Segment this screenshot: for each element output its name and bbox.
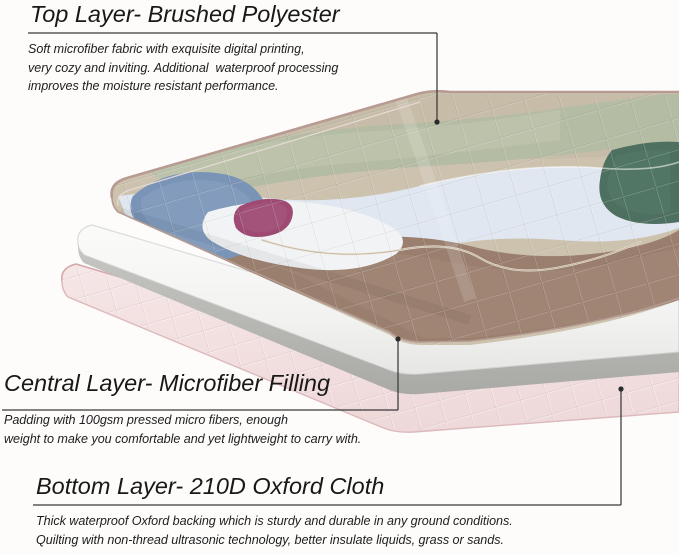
- top-line-1: Soft microfiber fabric with exquisite di…: [28, 42, 305, 56]
- bottom-layer-description: Thick waterproof Oxford backing which is…: [36, 512, 513, 549]
- central-line-1: Padding with 100gsm pressed micro fibers…: [4, 413, 288, 427]
- bottom-layer-callout-dot: [618, 386, 623, 391]
- central-layer-callout-dot: [395, 336, 400, 341]
- top-layer-callout-dot: [434, 119, 439, 124]
- top-line-3: improves the moisture resistant performa…: [28, 79, 278, 93]
- bottom-layer-heading: Bottom Layer- 210D Oxford Cloth: [36, 473, 384, 500]
- bottom-line-2: Quilting with non-thread ultrasonic tech…: [36, 533, 504, 547]
- central-layer-description: Padding with 100gsm pressed micro fibers…: [4, 411, 361, 448]
- top-layer-description: Soft microfiber fabric with exquisite di…: [28, 40, 338, 96]
- top-line-2: very cozy and inviting. Additional water…: [28, 61, 338, 75]
- top-layer-heading: Top Layer- Brushed Polyester: [30, 1, 340, 28]
- bottom-line-1: Thick waterproof Oxford backing which is…: [36, 514, 513, 528]
- infographic-canvas: Top Layer- Brushed Polyester Soft microf…: [0, 0, 679, 555]
- central-layer-heading: Central Layer- Microfiber Filling: [4, 370, 330, 397]
- central-line-2: weight to make you comfortable and yet l…: [4, 432, 361, 446]
